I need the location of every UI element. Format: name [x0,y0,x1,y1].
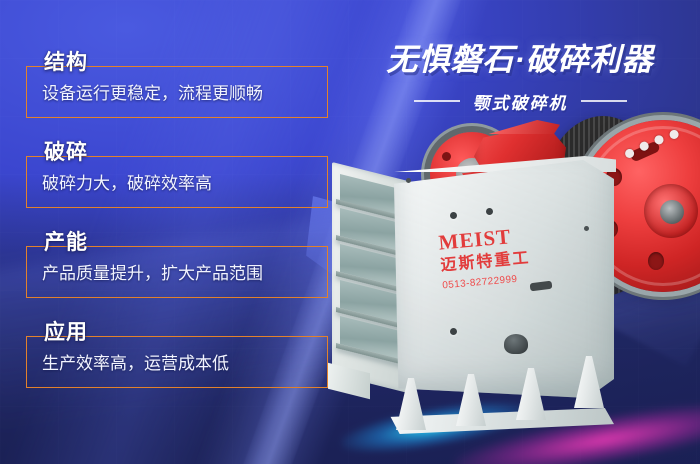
promo-banner: 结构 设备运行更稳定，流程更顺畅 破碎 破碎力大，破碎效率高 产能 产品质量提升… [0,0,700,464]
feature-description: 产品质量提升，扩大产品范围 [42,264,263,284]
jaw-crusher-illustration: MEIST 迈斯特重工 0513-82722999 [334,116,700,464]
feature-title-wrap: 应用 [42,322,94,343]
feature-title-wrap: 结构 [42,52,94,73]
headline-subtitle-row: 颚式破碎机 [352,89,688,114]
feature-description: 生产效率高，运营成本低 [42,354,229,374]
dash-right-icon [581,100,627,102]
headline-title: 无惧磐石·破碎利器 [352,44,688,77]
headline-block: 无惧磐石·破碎利器 颚式破碎机 [352,44,688,114]
flywheel-shaft [660,200,684,224]
feature-title-wrap: 产能 [42,232,94,253]
feature-item-application: 应用 生产效率高，运营成本低 [26,322,328,388]
feature-title: 结构 [42,52,94,73]
machine-hopper-lip [484,120,560,134]
feature-title-wrap: 破碎 [42,142,94,163]
feature-description: 破碎力大，破碎效率高 [42,174,212,194]
feature-item-structure: 结构 设备运行更稳定，流程更顺畅 [26,52,328,118]
feature-title: 产能 [42,232,94,253]
feature-item-capacity: 产能 产品质量提升，扩大产品范围 [26,232,328,298]
feature-description: 设备运行更稳定，流程更顺畅 [42,84,263,104]
feature-item-crushing: 破碎 破碎力大，破碎效率高 [26,142,328,208]
headline-subtitle: 颚式破碎机 [473,89,568,114]
feature-title: 破碎 [42,142,94,163]
feature-title: 应用 [42,322,94,343]
machine-access-port [504,334,528,354]
feature-list: 结构 设备运行更稳定，流程更顺畅 破碎 破碎力大，破碎效率高 产能 产品质量提升… [26,52,328,388]
dash-left-icon [414,100,460,102]
